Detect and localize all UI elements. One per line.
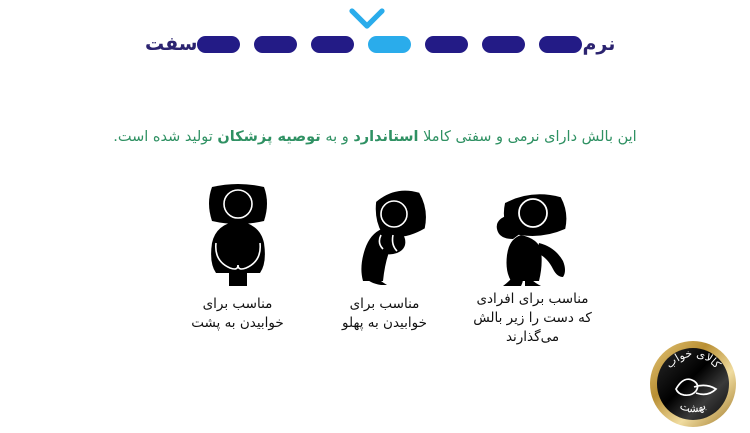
firmness-bar-4-active[interactable] <box>368 36 411 53</box>
person-hand-under-pillow-icon <box>481 181 585 286</box>
pictogram-hand-under-pillow: مناسب برای افرادی که دست را زیر بالش می‌… <box>450 178 615 347</box>
usage-pictograms: مناسب برای خوابیدن به پشت مناسب برای خوا… <box>150 178 620 368</box>
description-part-2: و به <box>321 129 354 145</box>
description-part-1: این بالش دارای نرمی و سفتی کاملا <box>419 129 637 145</box>
firmness-label-soft: نرم <box>582 32 615 56</box>
figure-box-underarm <box>450 178 615 286</box>
description-emphasis-standard: استاندارد <box>353 129 418 145</box>
firmness-bar-5[interactable] <box>425 36 468 53</box>
firmness-bar-6[interactable] <box>482 36 525 53</box>
chevron-down-icon <box>349 8 385 30</box>
person-sleeping-on-side-icon <box>335 181 435 286</box>
firmness-scale-row: سفت نرم <box>145 32 605 56</box>
firmness-bar-2[interactable] <box>254 36 297 53</box>
caption-back-sleeper: مناسب برای خوابیدن به پشت <box>155 295 320 333</box>
firmness-bar-7[interactable] <box>539 36 582 53</box>
firmness-bars <box>197 36 582 53</box>
firmness-bar-1[interactable] <box>197 36 240 53</box>
pictogram-back-sleeper: مناسب برای خوابیدن به پشت <box>155 178 320 333</box>
description-emphasis-doctors: توصیه پزشکان <box>217 129 320 145</box>
caption-hand-under-pillow: مناسب برای افرادی که دست را زیر بالش می‌… <box>450 290 615 347</box>
pictogram-side-sleeper: مناسب برای خوابیدن به پهلو <box>302 178 467 333</box>
product-description: این بالش دارای نرمی و سفتی کاملا استاندا… <box>0 126 750 148</box>
firmness-scale: سفت نرم <box>0 0 750 72</box>
description-part-3: تولید شده است. <box>113 129 217 145</box>
brand-logo[interactable]: کالای خواب بهشت <box>648 339 738 429</box>
firmness-label-firm: سفت <box>145 32 197 56</box>
firmness-bar-3[interactable] <box>311 36 354 53</box>
caption-side-sleeper: مناسب برای خوابیدن به پهلو <box>302 295 467 333</box>
figure-box-back <box>155 178 320 286</box>
brand-logo-icon: کالای خواب بهشت <box>648 339 738 429</box>
person-sleeping-on-back-icon <box>192 181 284 286</box>
figure-box-side <box>302 178 467 286</box>
